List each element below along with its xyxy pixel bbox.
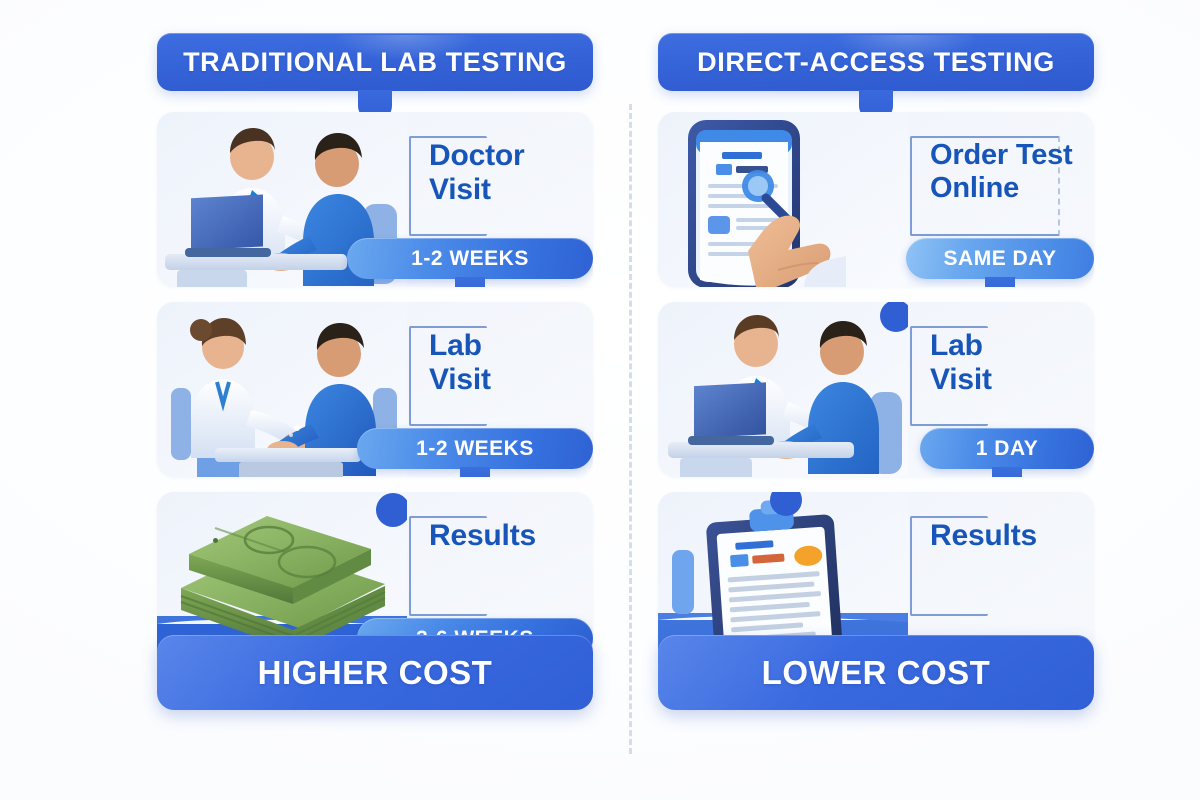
step-card-lab-visit: Lab Visit 1 DAY — [658, 302, 1094, 477]
timing-label: 1 DAY — [976, 437, 1038, 461]
column-header-label: TRADITIONAL LAB TESTING — [183, 47, 567, 78]
infographic-canvas: TRADITIONAL LAB TESTING — [0, 0, 1200, 800]
step-label-line1: Lab — [429, 329, 482, 362]
timing-label: SAME DAY — [944, 247, 1057, 271]
column-header-label: DIRECT-ACCESS TESTING — [697, 47, 1055, 78]
column-direct-access-testing: DIRECT-ACCESS TESTING — [658, 0, 1094, 710]
step-label: Lab Visit — [429, 329, 593, 397]
step-label-line1: Results — [429, 519, 536, 552]
step-label-block: Results — [409, 516, 589, 620]
step-label: Doctor Visit — [429, 139, 593, 207]
column-header-direct-access: DIRECT-ACCESS TESTING — [658, 33, 1094, 91]
step-label-line2: Online — [930, 172, 1019, 204]
column-traditional-lab-testing: TRADITIONAL LAB TESTING — [157, 0, 593, 710]
smartphone-online-order-hand-icon — [658, 112, 908, 287]
step-label: Order Test Online — [930, 139, 1094, 205]
step-label-line2: Visit — [429, 363, 491, 396]
cost-banner-higher-cost: HIGHER COST — [157, 635, 593, 710]
step-label: Results — [930, 519, 1094, 553]
timing-pill-lab-visit: 1 DAY — [920, 428, 1094, 469]
cost-banner-label: HIGHER COST — [258, 654, 493, 692]
step-label-line1: Lab — [930, 329, 983, 362]
timing-pill-lab-visit: 1-2 WEEKS — [357, 428, 593, 469]
timing-label: 1-2 WEEKS — [416, 437, 534, 461]
pill-connector-nub — [985, 277, 1015, 287]
step-label-block: Lab Visit — [910, 326, 1090, 430]
step-label-line1: Results — [930, 519, 1037, 552]
step-label: Lab Visit — [930, 329, 1094, 397]
lab-tech-desk-consultation-icon — [658, 302, 908, 477]
cost-banner-label: LOWER COST — [762, 654, 991, 692]
timing-pill-doctor-visit: 1-2 WEEKS — [347, 238, 593, 279]
step-card-order-test-online: Order Test Online SAME DAY — [658, 112, 1094, 287]
step-card-lab-visit: Lab Visit 1-2 WEEKS — [157, 302, 593, 477]
step-label-block: Results — [910, 516, 1090, 620]
step-label-block: Lab Visit — [409, 326, 589, 430]
step-label-line1: Doctor — [429, 139, 524, 172]
step-label-line1: Order Test — [930, 139, 1073, 171]
cost-banner-lower-cost: LOWER COST — [658, 635, 1094, 710]
step-label-line2: Visit — [930, 363, 992, 396]
step-label-line2: Visit — [429, 173, 491, 206]
step-label-block: Order Test Online — [910, 136, 1090, 240]
pill-connector-nub — [992, 467, 1022, 477]
timing-pill-order-test-online: SAME DAY — [906, 238, 1094, 279]
timing-label: 1-2 WEEKS — [411, 247, 529, 271]
step-card-doctor-visit: Doctor Visit 1-2 WEEKS — [157, 112, 593, 287]
column-header-traditional: TRADITIONAL LAB TESTING — [157, 33, 593, 91]
pill-connector-nub — [455, 277, 485, 287]
pill-connector-nub — [460, 467, 490, 477]
step-label-block: Doctor Visit — [409, 136, 589, 240]
step-label: Results — [429, 519, 593, 553]
column-divider — [629, 104, 632, 754]
